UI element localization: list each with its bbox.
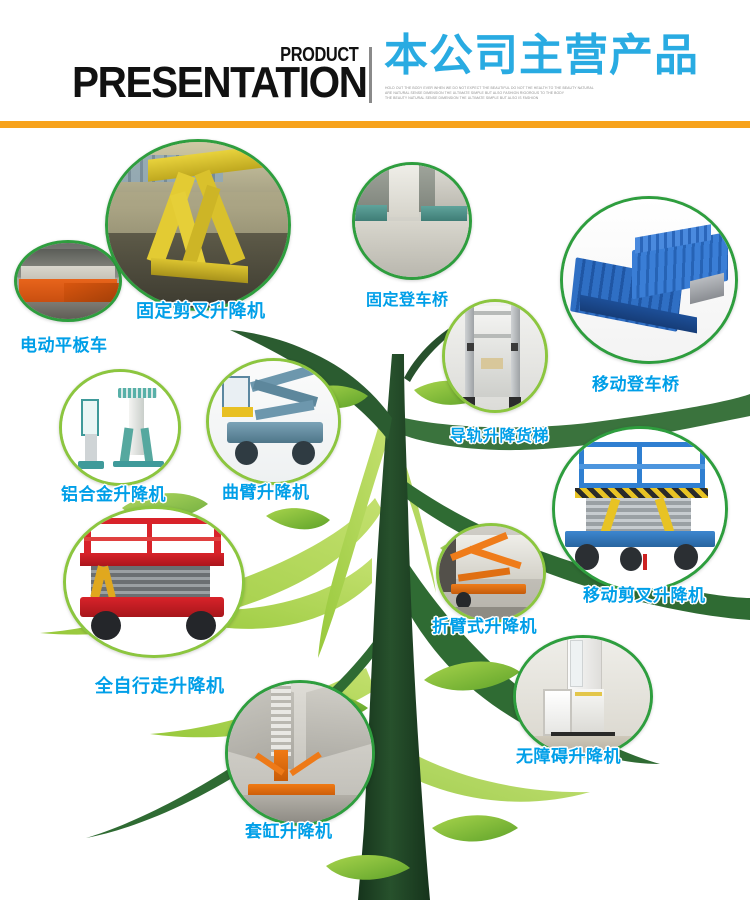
photo-barrier-free-lift[interactable]	[513, 635, 653, 758]
photo-folding-arm-lift[interactable]	[436, 523, 546, 623]
photo-guide-rail-cargo-lift[interactable]	[442, 299, 548, 413]
label-barrier-free-lift: 无障碍升降机	[516, 742, 621, 767]
photo-aluminium-alloy-lift[interactable]	[59, 369, 181, 486]
photo-fixed-scissor-lift[interactable]	[105, 139, 291, 311]
product-presentation-poster: PRODUCT PRESENTATION 本公司主营产品 HOLD OUT TH…	[0, 0, 750, 900]
photo-self-propelled-lift[interactable]	[63, 506, 245, 658]
label-self-propelled-lift: 全自行走升降机	[95, 672, 225, 698]
photo-electric-flat-cart[interactable]	[14, 240, 122, 322]
photo-fixed-dock-leveler[interactable]	[352, 162, 472, 280]
label-fixed-scissor-lift: 固定剪叉升降机	[136, 297, 266, 323]
label-electric-flat-cart: 电动平板车	[20, 331, 108, 356]
label-folding-arm-lift: 折臂式升降机	[432, 612, 537, 637]
header-filler-text-line-3: THE BEAUTY NATURAL SENSE DIMENSION THE U…	[385, 96, 538, 101]
photo-articulated-boom-lift[interactable]	[206, 358, 341, 485]
photo-mobile-scissor-lift[interactable]	[552, 426, 728, 592]
photo-mobile-dock-ramp[interactable]	[560, 196, 738, 364]
label-telescopic-cylinder-lift: 套缸升降机	[245, 817, 333, 842]
label-fixed-dock-leveler: 固定登车桥	[366, 286, 449, 310]
label-mobile-dock-ramp: 移动登车桥	[592, 370, 680, 395]
label-guide-rail-cargo-lift: 导轨升降货梯	[450, 422, 549, 446]
header-presentation-word: PRESENTATION	[72, 61, 367, 105]
label-aluminium-alloy-lift: 铝合金升降机	[61, 480, 166, 505]
orange-divider-bar	[0, 121, 750, 128]
label-mobile-scissor-lift: 移动剪叉升降机	[583, 581, 706, 606]
poster-header: PRODUCT PRESENTATION 本公司主营产品 HOLD OUT TH…	[0, 0, 750, 122]
header-vertical-divider	[369, 47, 372, 103]
english-title-block: PRODUCT PRESENTATION	[72, 44, 362, 106]
photo-telescopic-cylinder-lift[interactable]	[225, 680, 375, 826]
label-articulated-boom-lift: 曲臂升降机	[222, 478, 310, 503]
header-chinese-title: 本公司主营产品	[384, 33, 699, 79]
